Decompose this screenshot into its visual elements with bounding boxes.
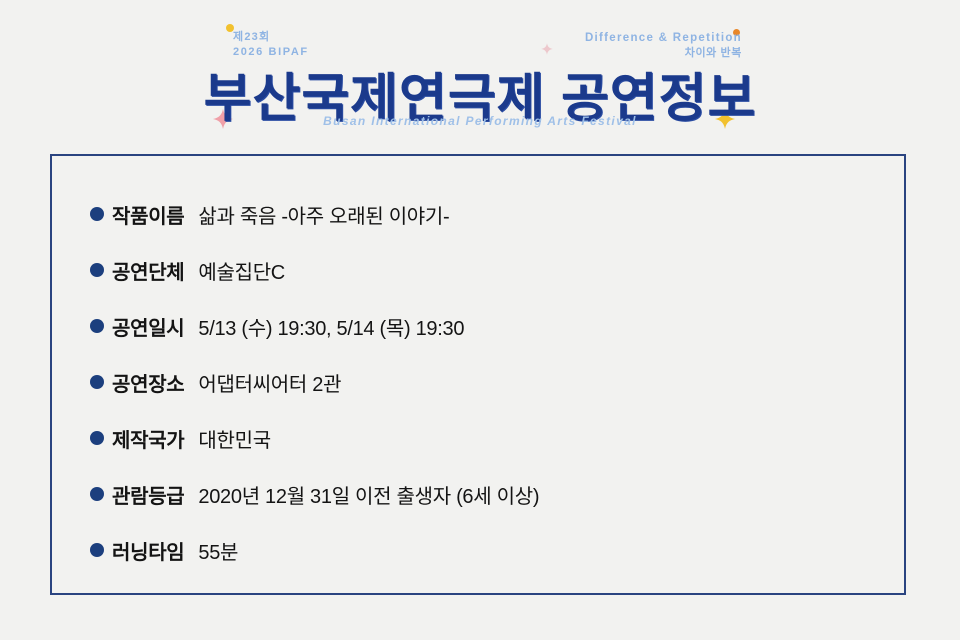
- poster-header: 제23회 2026 BIPAF Difference & Repetition …: [0, 0, 960, 150]
- info-row-value: 대한민국: [198, 424, 270, 453]
- info-row-value: 55분: [198, 536, 238, 565]
- info-row: 공연장소어댑터씨어터 2관: [90, 354, 884, 410]
- info-row-label: 공연장소: [112, 368, 184, 397]
- info-row: 제작국가대한민국: [90, 410, 884, 466]
- performance-info-panel: 작품이름삶과 죽음 -아주 오래된 이야기-공연단체예술집단C공연일시5/13 …: [50, 154, 906, 595]
- bullet-icon: [90, 319, 104, 333]
- info-row: 작품이름삶과 죽음 -아주 오래된 이야기-: [90, 186, 884, 242]
- info-row-value: 2020년 12월 31일 이전 출생자 (6세 이상): [198, 480, 539, 509]
- info-row: 공연단체예술집단C: [90, 242, 884, 298]
- info-row-label: 러닝타임: [112, 536, 184, 565]
- bullet-icon: [90, 263, 104, 277]
- info-row-value: 어댑터씨어터 2관: [198, 368, 341, 397]
- info-row-label: 제작국가: [112, 424, 184, 453]
- performance-info-list: 작품이름삶과 죽음 -아주 오래된 이야기-공연단체예술집단C공연일시5/13 …: [90, 186, 884, 578]
- bullet-icon: [90, 543, 104, 557]
- info-row: 관람등급2020년 12월 31일 이전 출생자 (6세 이상): [90, 466, 884, 522]
- bullet-icon: [90, 487, 104, 501]
- info-row-label: 공연단체: [112, 256, 184, 285]
- info-row-label: 작품이름: [112, 200, 184, 229]
- page-subtitle: Busan International Performing Arts Fest…: [0, 114, 960, 128]
- pink-sparkle-icon: [540, 42, 554, 56]
- edition-number: 제23회: [233, 30, 309, 45]
- bullet-icon: [90, 431, 104, 445]
- info-row-value: 5/13 (수) 19:30, 5/14 (목) 19:30: [198, 312, 464, 341]
- bullet-icon: [90, 375, 104, 389]
- info-row-value: 예술집단C: [198, 256, 285, 285]
- info-row-label: 공연일시: [112, 312, 184, 341]
- info-row: 러닝타임55분: [90, 522, 884, 578]
- slogan-english: Difference & Repetition: [585, 30, 742, 46]
- bullet-icon: [90, 207, 104, 221]
- info-row-value: 삶과 죽음 -아주 오래된 이야기-: [198, 200, 449, 229]
- info-row: 공연일시5/13 (수) 19:30, 5/14 (목) 19:30: [90, 298, 884, 354]
- info-row-label: 관람등급: [112, 480, 184, 509]
